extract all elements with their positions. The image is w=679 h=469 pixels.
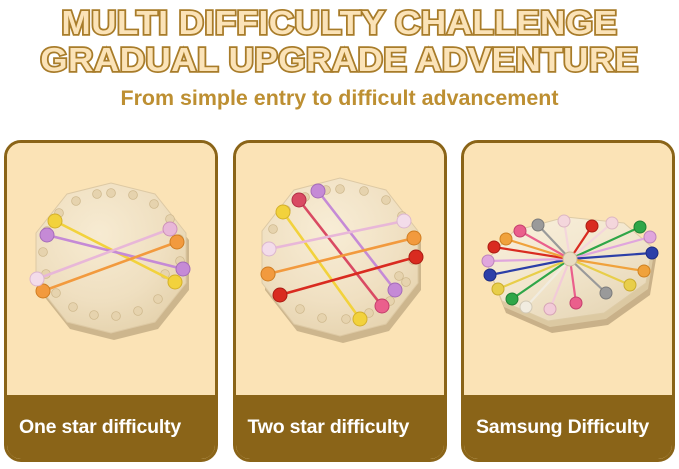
board-image-one-star [7, 143, 215, 395]
peg-board-illustration-two-star [236, 143, 444, 395]
board-image-two-star [236, 143, 444, 395]
board-image-samsung [464, 143, 672, 395]
card-label-bar-two-star: Two star difficulty [236, 395, 444, 459]
board-center-hub [563, 252, 577, 266]
difficulty-card-two-star[interactable]: Two star difficulty [233, 140, 447, 462]
peg-board-illustration-samsung [464, 143, 672, 395]
difficulty-card-one-star[interactable]: One star difficulty [4, 140, 218, 462]
page-subtitle: From simple entry to difficult advanceme… [0, 87, 679, 111]
card-label-text-one-star: One star difficulty [19, 416, 181, 438]
difficulty-card-samsung[interactable]: Samsung Difficulty [461, 140, 675, 462]
page-header: MULTI DIFFICULTY CHALLENGE GRADUAL UPGRA… [0, 0, 679, 111]
card-label-bar-samsung: Samsung Difficulty [464, 395, 672, 459]
difficulty-card-row: One star difficulty [0, 140, 679, 465]
board-top-face [36, 183, 186, 333]
card-label-text-samsung: Samsung Difficulty [476, 416, 649, 438]
title-line-1: MULTI DIFFICULTY CHALLENGE [0, 4, 679, 41]
peg-board-illustration-one-star [7, 143, 215, 395]
card-label-text-two-star: Two star difficulty [248, 416, 410, 438]
title-line-2: GRADUAL UPGRADE ADVENTURE [0, 41, 679, 78]
card-label-bar-one-star: One star difficulty [7, 395, 215, 459]
